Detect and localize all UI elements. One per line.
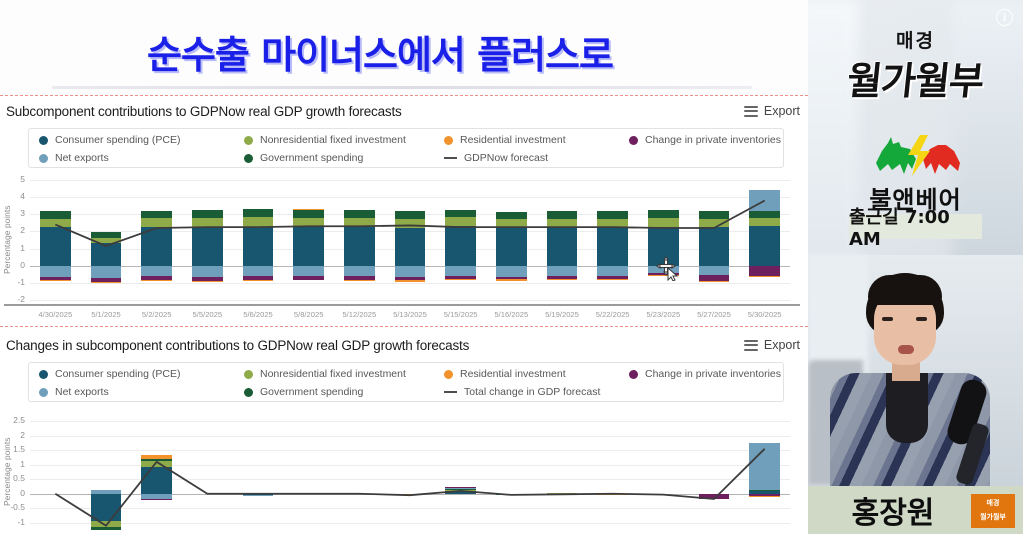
bar-segment (547, 266, 577, 276)
legend-item-change-in-private-inventories[interactable]: Change in private inventories (629, 365, 781, 383)
bar-segment (243, 209, 273, 217)
bar-5/30/2025[interactable] (749, 414, 779, 530)
bar-segment (192, 281, 222, 282)
legend-label: Residential investment (460, 134, 566, 146)
x-axis-tick: 5/30/2025 (739, 310, 791, 319)
bar-segment (699, 266, 729, 275)
legend-dot-icon (244, 388, 253, 397)
bar-5/5/2025[interactable] (192, 180, 222, 300)
legend-item-empty (629, 383, 781, 401)
bar-segment (141, 280, 171, 281)
gdpnow-contributions-panel: Subcomponent contributions to GDPNow rea… (0, 100, 808, 326)
bar-5/5/2025[interactable] (192, 414, 222, 530)
x-axis-line (4, 304, 800, 306)
page-title: 순수출 마이너스에서 플러스로 (0, 24, 760, 79)
bar-segment (40, 280, 70, 281)
bar-segment (141, 455, 171, 459)
bar-segment (648, 218, 678, 227)
bar-5/8/2025[interactable] (293, 180, 323, 300)
legend-dot-icon (444, 136, 453, 145)
bar-segment (344, 280, 374, 281)
bar-5/27/2025[interactable] (699, 414, 729, 530)
bar-segment (344, 227, 374, 266)
legend-label: Net exports (55, 152, 109, 164)
bar-segment (445, 489, 475, 490)
bar-segment (91, 232, 121, 238)
panel-header: Changes in subcomponent contributions to… (0, 334, 808, 364)
bar-segment (749, 226, 779, 265)
legend-item-nonresidential-fixed-investment[interactable]: Nonresidential fixed investment (244, 365, 444, 383)
y-axis-tick: 1.5 (3, 444, 25, 454)
bar-5/12/2025[interactable] (344, 414, 374, 530)
bar-segment (344, 266, 374, 276)
bar-segment (445, 226, 475, 265)
bar-segment (597, 494, 627, 495)
bar-segment (243, 217, 273, 227)
bar-segment (40, 266, 70, 277)
bar-segment (141, 266, 171, 276)
y-axis-tick: 0 (3, 260, 25, 270)
bar-segment (496, 227, 526, 266)
bar-segment (395, 266, 425, 277)
bar-5/22/2025[interactable] (597, 414, 627, 530)
legend-label: Consumer spending (PCE) (55, 368, 180, 380)
x-axis-tick: 5/16/2025 (485, 310, 537, 319)
y-axis-tick: -0.5 (3, 502, 25, 512)
bar-5/1/2025[interactable] (91, 180, 121, 300)
bar-segment (293, 209, 323, 210)
bar-segment (293, 227, 323, 266)
bar-5/27/2025[interactable] (699, 180, 729, 300)
bar-segment (445, 217, 475, 226)
speaker-video: 홍장원 매경 월가월부 (808, 255, 1023, 534)
x-axis-tick: 5/2/2025 (131, 310, 183, 319)
bar-segment (496, 494, 526, 495)
bar-segment (648, 210, 678, 218)
bar-segment (749, 218, 779, 227)
bar-segment (293, 276, 323, 280)
bar-segment (40, 211, 70, 219)
legend-item-residential-investment[interactable]: Residential investment (444, 131, 629, 149)
legend-item-net-exports[interactable]: Net exports (39, 383, 244, 401)
panel-title: Subcomponent contributions to GDPNow rea… (6, 104, 402, 119)
bar-segment (699, 281, 729, 282)
gridline (30, 300, 790, 301)
brand-chip: 매경 월가월부 (971, 494, 1015, 528)
bar-5/12/2025[interactable] (344, 180, 374, 300)
speaker-inner-top (886, 373, 928, 443)
bar-segment (192, 210, 222, 218)
legend-label: Consumer spending (PCE) (55, 134, 180, 146)
bar-segment (395, 228, 425, 266)
panel-header: Subcomponent contributions to GDPNow rea… (0, 100, 808, 130)
bar-segment (496, 266, 526, 277)
y-axis-tick: 5 (3, 174, 25, 184)
bar-segment (91, 243, 121, 265)
y-axis-tick: 1 (3, 459, 25, 469)
bar-segment (91, 490, 121, 494)
bar-segment (243, 495, 273, 496)
speaker-eye-right (916, 317, 927, 321)
title-divider (52, 86, 752, 89)
speaker-name: 홍장원 (808, 488, 978, 532)
bar-segment (648, 275, 678, 276)
legend-dot-icon (244, 154, 253, 163)
bar-4/30/2025[interactable] (40, 180, 70, 300)
bar-segment (243, 227, 273, 266)
bar-segment (749, 276, 779, 277)
bar-5/23/2025[interactable] (648, 414, 678, 530)
menu-icon (744, 337, 758, 353)
bar-segment (597, 279, 627, 280)
legend-label: Net exports (55, 386, 109, 398)
bar-segment (749, 443, 779, 490)
bar-5/15/2025[interactable] (445, 180, 475, 300)
bar-segment (344, 210, 374, 218)
bar-segment (547, 494, 577, 495)
bar-segment (699, 227, 729, 266)
bar-segment (597, 227, 627, 266)
bar-5/8/2025[interactable] (293, 414, 323, 530)
menu-icon (744, 103, 758, 119)
bar-segment (496, 279, 526, 281)
shared-screen-pane: 순수출 마이너스에서 플러스로 Subcomponent contributio… (0, 0, 808, 534)
bar-segment (749, 490, 779, 491)
bar-segment (648, 266, 678, 273)
legend-item-net-exports[interactable]: Net exports (39, 149, 244, 167)
chart-legend: Consumer spending (PCE)Nonresidential fi… (28, 362, 784, 402)
legend-dot-icon (39, 154, 48, 163)
info-icon[interactable]: i (996, 9, 1013, 26)
chart-plot-area[interactable]: Percentage points2.521.510.50-0.5-1 (0, 406, 808, 534)
legend-dot-icon (629, 370, 638, 379)
x-axis-tick: 5/22/2025 (587, 310, 639, 319)
x-axis-tick: 4/30/2025 (29, 310, 81, 319)
bar-segment (496, 219, 526, 228)
bar-5/13/2025[interactable] (395, 414, 425, 530)
x-axis-tick: 5/23/2025 (637, 310, 689, 319)
bar-5/15/2025[interactable] (445, 414, 475, 530)
legend-item-nonresidential-fixed-investment[interactable]: Nonresidential fixed investment (244, 131, 444, 149)
bar-segment (496, 212, 526, 219)
y-axis-tick: 2 (3, 430, 25, 440)
bar-segment (243, 266, 273, 276)
bar-segment (40, 219, 70, 228)
bar-segment (141, 218, 171, 227)
bar-segment (699, 211, 729, 219)
legend-item-consumer-spending-pce[interactable]: Consumer spending (PCE) (39, 365, 244, 383)
bar-segment (141, 211, 171, 218)
legend-dot-icon (39, 370, 48, 379)
bar-segment (445, 491, 475, 494)
bar-segment (395, 211, 425, 219)
x-axis-tick: 5/13/2025 (384, 310, 436, 319)
x-axis-tick: 5/19/2025 (536, 310, 588, 319)
bar-5/16/2025[interactable] (496, 414, 526, 530)
bar-segment (749, 211, 779, 218)
bar-segment (243, 280, 273, 281)
x-axis-tick: 5/12/2025 (333, 310, 385, 319)
legend-label: GDPNow forecast (464, 152, 548, 164)
bar-segment (547, 211, 577, 219)
camera-pane: i 매경 월가월부 불앤베어 출근길 7:00 AM 홍장원 (808, 0, 1023, 534)
legend-item-gdpnow-forecast[interactable]: GDPNow forecast (444, 149, 629, 167)
y-axis-tick: 3 (3, 208, 25, 218)
speaker-hair-front (868, 275, 942, 305)
legend-label: Total change in GDP forecast (464, 386, 600, 398)
shared-region-mid-border (0, 326, 808, 327)
speaker-mouth (898, 345, 914, 354)
bar-5/2/2025[interactable] (141, 414, 171, 530)
gdpnow-changes-panel: Changes in subcomponent contributions to… (0, 334, 808, 534)
x-axis-tick: 5/27/2025 (688, 310, 740, 319)
bar-segment (597, 219, 627, 228)
legend-dot-icon (629, 136, 638, 145)
bar-segment (445, 279, 475, 281)
lower-third-bar: 홍장원 매경 월가월부 (808, 486, 1023, 534)
legend-dot-icon (444, 370, 453, 379)
brand-chip-line2: 월가월부 (971, 508, 1015, 522)
bar-5/6/2025[interactable] (243, 180, 273, 300)
bar-5/2/2025[interactable] (141, 180, 171, 300)
bar-segment (445, 210, 475, 217)
bar-segment (91, 266, 121, 278)
bar-segment (597, 211, 627, 219)
bar-segment (699, 494, 729, 499)
bar-segment (293, 266, 323, 276)
legend-item-residential-investment[interactable]: Residential investment (444, 365, 629, 383)
speaker-eye-left (882, 317, 893, 321)
bar-segment (395, 494, 425, 496)
bar-segment (293, 218, 323, 227)
legend-dot-icon (39, 388, 48, 397)
legend-dot-icon (244, 136, 253, 145)
bar-5/19/2025[interactable] (547, 414, 577, 530)
bar-segment (192, 218, 222, 227)
legend-item-total-change-in-gdp-forecast[interactable]: Total change in GDP forecast (444, 383, 629, 401)
brand-chip-line1: 매경 (971, 494, 1015, 508)
bar-segment (141, 467, 171, 494)
bar-segment (547, 227, 577, 266)
bar-4/30/2025[interactable] (40, 414, 70, 530)
screen-root: 순수출 마이너스에서 플러스로 Subcomponent contributio… (0, 0, 1023, 534)
y-axis-tick: 2.5 (3, 415, 25, 425)
y-axis-tick: 1 (3, 243, 25, 253)
bar-segment (445, 490, 475, 491)
bar-segment (91, 238, 121, 243)
bull-and-bear-icon (868, 133, 968, 178)
bar-5/23/2025[interactable] (648, 180, 678, 300)
x-axis-tick: 5/15/2025 (435, 310, 487, 319)
y-axis-tick: -1 (3, 517, 25, 527)
y-axis-tick: 2 (3, 225, 25, 235)
bar-segment (141, 461, 171, 467)
chart-legend: Consumer spending (PCE)Nonresidential fi… (28, 128, 784, 168)
bar-segment (192, 227, 222, 266)
export-label: Export (764, 338, 800, 352)
legend-dot-icon (39, 136, 48, 145)
bar-segment (141, 227, 171, 266)
y-axis-tick: 0 (3, 488, 25, 498)
bar-segment (547, 279, 577, 281)
legend-label: Nonresidential fixed investment (260, 368, 406, 380)
bar-segment (648, 227, 678, 266)
export-label: Export (764, 104, 800, 118)
legend-line-icon (444, 157, 457, 160)
bar-segment (749, 190, 779, 211)
bar-segment (293, 210, 323, 218)
bar-segment (91, 527, 121, 530)
x-axis-tick: 5/1/2025 (80, 310, 132, 319)
chart-plot-area[interactable]: Percentage points543210-1-24/30/20255/1/… (0, 172, 808, 326)
bar-segment (749, 496, 779, 497)
bar-5/6/2025[interactable] (243, 414, 273, 530)
bar-segment (91, 282, 121, 283)
bar-5/30/2025[interactable] (749, 180, 779, 300)
bar-segment (40, 227, 70, 266)
brand-show-title: 월가월부 (808, 50, 1023, 105)
panel-title: Changes in subcomponent contributions to… (6, 338, 469, 353)
bar-5/13/2025[interactable] (395, 180, 425, 300)
legend-label: Change in private inventories (645, 134, 781, 146)
bar-segment (445, 487, 475, 488)
bar-segment (597, 266, 627, 276)
y-axis-tick: 4 (3, 191, 25, 201)
bar-segment (699, 219, 729, 228)
bar-segment (141, 459, 171, 460)
legend-label: Nonresidential fixed investment (260, 134, 406, 146)
x-axis-tick: 5/5/2025 (181, 310, 233, 319)
legend-item-government-spending[interactable]: Government spending (244, 383, 444, 401)
bar-segment (141, 499, 171, 500)
legend-label: Government spending (260, 386, 363, 398)
legend-item-change-in-private-inventories[interactable]: Change in private inventories (629, 131, 781, 149)
y-axis-tick: -1 (3, 277, 25, 287)
legend-item-government-spending[interactable]: Government spending (244, 149, 444, 167)
legend-item-empty (629, 149, 781, 167)
bar-5/1/2025[interactable] (91, 414, 121, 530)
legend-item-consumer-spending-pce[interactable]: Consumer spending (PCE) (39, 131, 244, 149)
export-button[interactable]: Export (744, 337, 800, 353)
legend-label: Government spending (260, 152, 363, 164)
x-axis-tick: 5/8/2025 (283, 310, 335, 319)
bar-segment (192, 266, 222, 277)
broadcast-time-badge: 출근길 7:00 AM (849, 214, 982, 239)
legend-dot-icon (244, 370, 253, 379)
bar-segment (547, 219, 577, 228)
bar-segment (749, 266, 779, 276)
bar-segment (445, 266, 475, 276)
bar-segment (344, 218, 374, 227)
legend-label: Residential investment (460, 368, 566, 380)
bar-5/19/2025[interactable] (547, 180, 577, 300)
y-axis-tick: -2 (3, 294, 25, 304)
export-button[interactable]: Export (744, 103, 800, 119)
bar-5/22/2025[interactable] (597, 180, 627, 300)
legend-label: Change in private inventories (645, 368, 781, 380)
bar-segment (91, 494, 121, 522)
bar-5/16/2025[interactable] (496, 180, 526, 300)
shared-region-top-border (0, 95, 808, 96)
bar-segment (395, 219, 425, 228)
y-axis-tick: 0.5 (3, 473, 25, 483)
brand-network-label: 매경 (808, 26, 1023, 53)
legend-line-icon (444, 391, 457, 394)
x-axis-tick: 5/6/2025 (232, 310, 284, 319)
bar-segment (395, 280, 425, 282)
